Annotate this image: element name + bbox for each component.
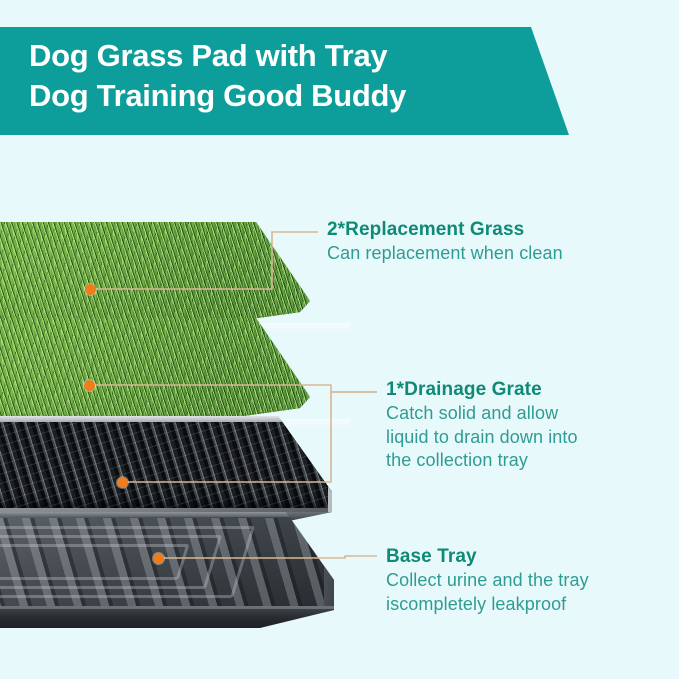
callout-drainage-grate: 1*Drainage Grate Catch solid and allow l…	[386, 378, 578, 473]
tray-layer-marker	[153, 553, 164, 564]
grate-layer-marker	[117, 477, 128, 488]
callout-replacement-grass: 2*Replacement Grass Can replacement when…	[327, 218, 563, 266]
header-banner: Dog Grass Pad with Tray Dog Training Goo…	[0, 27, 569, 135]
callout-title: Base Tray	[386, 545, 589, 569]
callout-description-line: liquid to drain down into	[386, 426, 578, 450]
grass-layer-marker-2	[84, 380, 95, 391]
header-title-block: Dog Grass Pad with Tray Dog Training Goo…	[29, 36, 406, 116]
header-title-line-2: Dog Training Good Buddy	[29, 76, 406, 116]
callout-description: Collect urine and the tray iscompletely …	[386, 569, 589, 617]
header-title-line-1: Dog Grass Pad with Tray	[29, 36, 406, 76]
callout-description: Can replacement when clean	[327, 242, 563, 266]
infographic-canvas: Dog Grass Pad with Tray Dog Training Goo…	[0, 0, 679, 679]
callout-title: 1*Drainage Grate	[386, 378, 578, 402]
callout-description-line: Catch solid and allow	[386, 402, 578, 426]
callout-description-line: iscompletely leakproof	[386, 593, 589, 617]
callout-title: 2*Replacement Grass	[327, 218, 563, 242]
callout-description-line: Collect urine and the tray	[386, 569, 589, 593]
callout-description: Catch solid and allow liquid to drain do…	[386, 402, 578, 473]
callout-base-tray: Base Tray Collect urine and the tray isc…	[386, 545, 589, 616]
grass-layer-marker	[85, 284, 96, 295]
callout-description-line: the collection tray	[386, 449, 578, 473]
callout-description-line: Can replacement when clean	[327, 242, 563, 266]
